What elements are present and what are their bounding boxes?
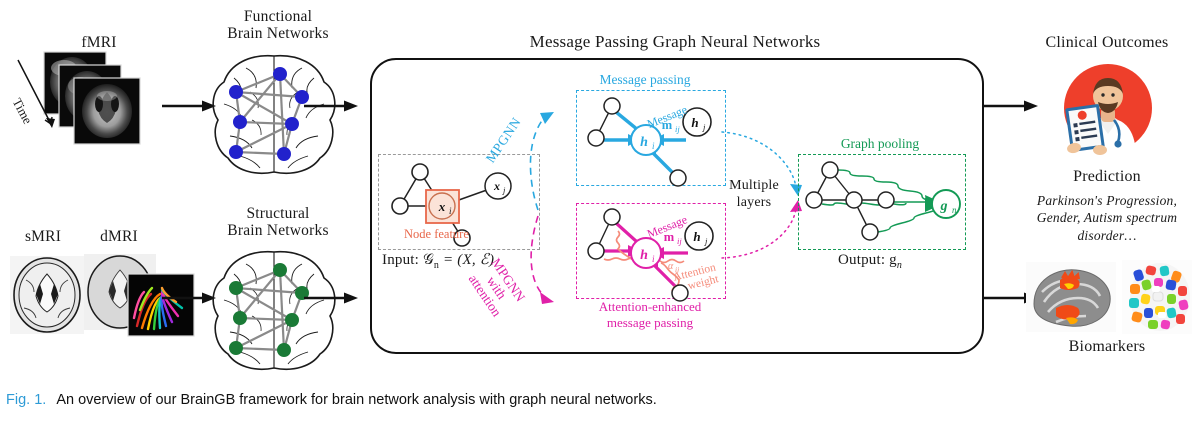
- structural-brain-graph: [206, 248, 346, 373]
- graph-pooling-graph: g n: [798, 154, 968, 250]
- fmri-label: fMRI: [54, 34, 144, 51]
- fmri-group: fMRI: [14, 34, 174, 164]
- smri-label: sMRI: [8, 228, 78, 245]
- output-caption-text: Output: g: [838, 252, 897, 268]
- biomarkers-label: Biomarkers: [1022, 338, 1192, 356]
- clinical-outcomes-title: Clinical Outcomes: [1022, 34, 1192, 52]
- biomarker-surface-image: [1026, 262, 1116, 332]
- output-caption-sub: n: [897, 260, 902, 271]
- functional-network-label: Functional Brain Networks: [198, 8, 358, 43]
- functional-network-group: Functional Brain Networks: [198, 8, 358, 43]
- output-caption: Output: gn: [838, 252, 902, 271]
- dmri-label: dMRI: [84, 228, 154, 245]
- arrow-structural-to-mpgnn: [302, 288, 362, 308]
- structural-network-group: Structural Brain Networks: [198, 205, 358, 240]
- structural-network-label: Structural Brain Networks: [198, 205, 358, 240]
- svg-text:n: n: [952, 205, 957, 215]
- fmri-slice-1: [74, 78, 140, 144]
- fmri-stack: [14, 52, 174, 162]
- doctor-illustration: [1052, 58, 1164, 160]
- svg-text:ij: ij: [677, 236, 682, 246]
- prediction-l1: Parkinson's Progression,: [1012, 192, 1192, 209]
- attention-passing-title: Attention-enhanced message passing: [560, 299, 740, 330]
- svg-text:g: g: [940, 199, 948, 214]
- graph-pooling-title: Graph pooling: [790, 136, 970, 152]
- figure-caption-text: An overview of our BrainGB framework for…: [56, 392, 656, 408]
- prediction-title: Prediction: [1022, 168, 1192, 186]
- attention-title-l2: message passing: [560, 315, 740, 331]
- prediction-detail: Parkinson's Progression, Gender, Autism …: [1012, 192, 1192, 244]
- figure-caption: Fig. 1. An overview of our BrainGB frame…: [6, 392, 1186, 408]
- biomarker-parcellation-image: [1122, 260, 1192, 334]
- message-passing-title: Message passing: [560, 72, 730, 88]
- mpgnn-title: Message Passing Graph Neural Networks: [370, 32, 980, 51]
- prediction-l3: disorder…: [1012, 227, 1192, 244]
- svg-text:x: x: [438, 199, 446, 214]
- prediction-l2: Gender, Autism spectrum: [1012, 209, 1192, 226]
- message-passing-graph: h i h j m ij: [576, 90, 728, 186]
- attention-title-l1: Attention-enhanced: [560, 299, 740, 315]
- svg-text:h: h: [640, 135, 648, 150]
- svg-text:α: α: [668, 261, 674, 272]
- arrow-functional-to-mpgnn: [302, 96, 362, 116]
- figure-caption-prefix: Fig. 1.: [6, 392, 46, 408]
- arrow-mpgnn-to-clinical: [982, 96, 1042, 116]
- input-caption-text: Input: 𝒢: [382, 252, 434, 268]
- node-feature-label: Node feature: [404, 227, 469, 241]
- svg-text:h: h: [693, 229, 700, 244]
- smri-image: [8, 254, 86, 338]
- svg-text:h: h: [640, 248, 648, 263]
- svg-text:ij: ij: [675, 124, 680, 134]
- svg-text:h: h: [691, 115, 698, 130]
